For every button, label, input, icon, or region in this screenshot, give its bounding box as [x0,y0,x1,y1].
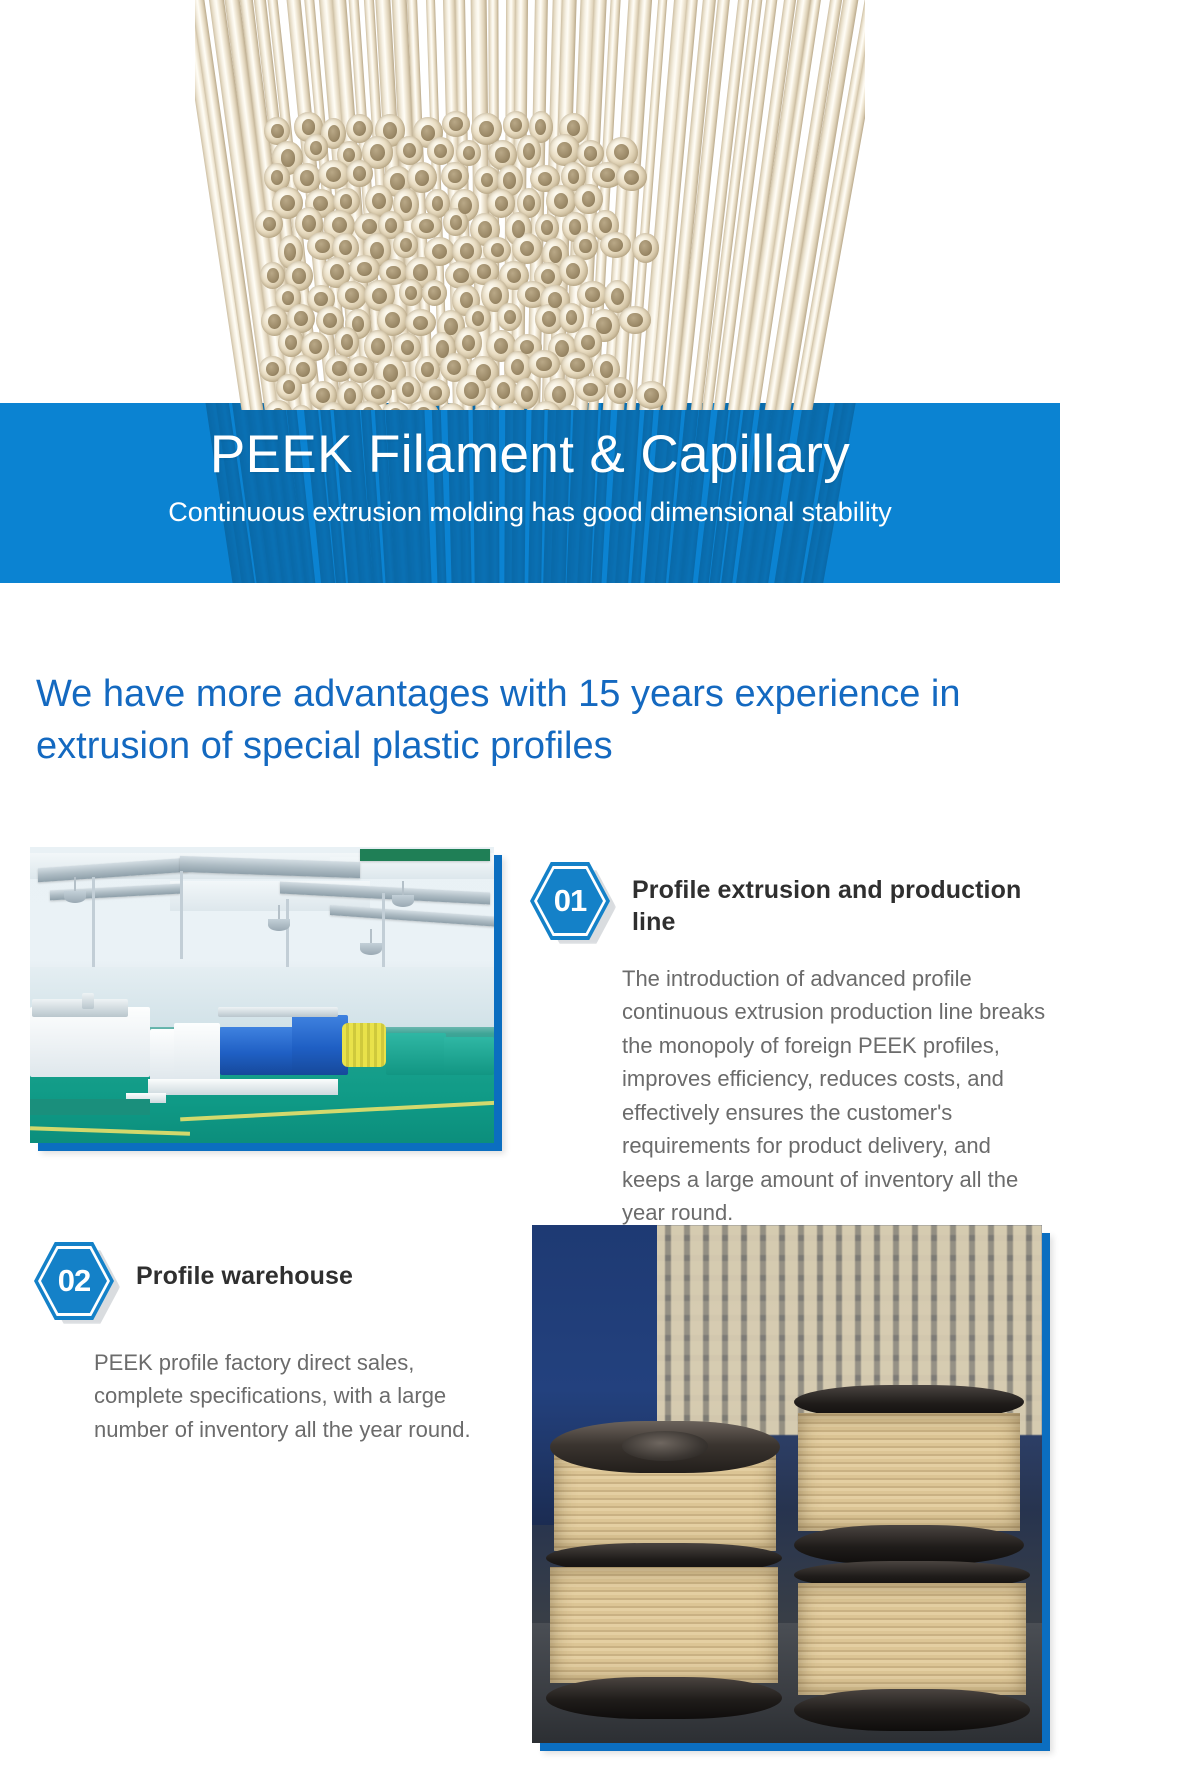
factory-photo-frame [38,855,502,1151]
feature-02-title: Profile warehouse [136,1242,504,1292]
banner-subtitle: Continuous extrusion molding has good di… [0,496,1060,528]
feature-01-title: Profile extrusion and production line [632,862,1050,938]
spools-photo-frame [540,1233,1050,1751]
section-headline: We have more advantages with 15 years ex… [36,668,1046,773]
product-detail-page: PEEK Filament & Capillary Continuous ext… [0,0,1200,1784]
banner-text-group: PEEK Filament & Capillary Continuous ext… [0,425,1060,529]
spools-photo [532,1225,1042,1743]
feature-01-body: The introduction of advanced profile con… [622,962,1050,1230]
spool-bottom-right [794,1561,1030,1731]
feature-block-02: 02 Profile warehouse PEEK profile factor… [34,1242,504,1446]
hexagon-badge-icon: 01 [530,862,616,944]
hero-image [0,0,1060,410]
feature-02-header: 02 Profile warehouse [34,1242,504,1324]
feature-02-body: PEEK profile factory direct sales, compl… [94,1346,504,1446]
spool-bottom-left [546,1543,782,1719]
peek-tubes-photo [195,0,865,410]
spools-scene [532,1225,1042,1743]
feature-01-number: 01 [554,883,586,919]
factory-scene [30,847,494,1143]
feature-01-header: 01 Profile extrusion and production line [530,862,1050,944]
hexagon-badge-icon: 02 [34,1242,120,1324]
title-banner: PEEK Filament & Capillary Continuous ext… [0,403,1060,583]
banner-title: PEEK Filament & Capillary [0,425,1060,484]
hero-fade-left [0,0,90,410]
feature-block-01: 01 Profile extrusion and production line… [530,862,1050,1230]
feature-02-number: 02 [58,1263,90,1299]
factory-photo [30,847,494,1143]
spool-top-right [794,1385,1024,1565]
spool-top-left [550,1421,780,1551]
hero-fade-right [970,0,1060,410]
